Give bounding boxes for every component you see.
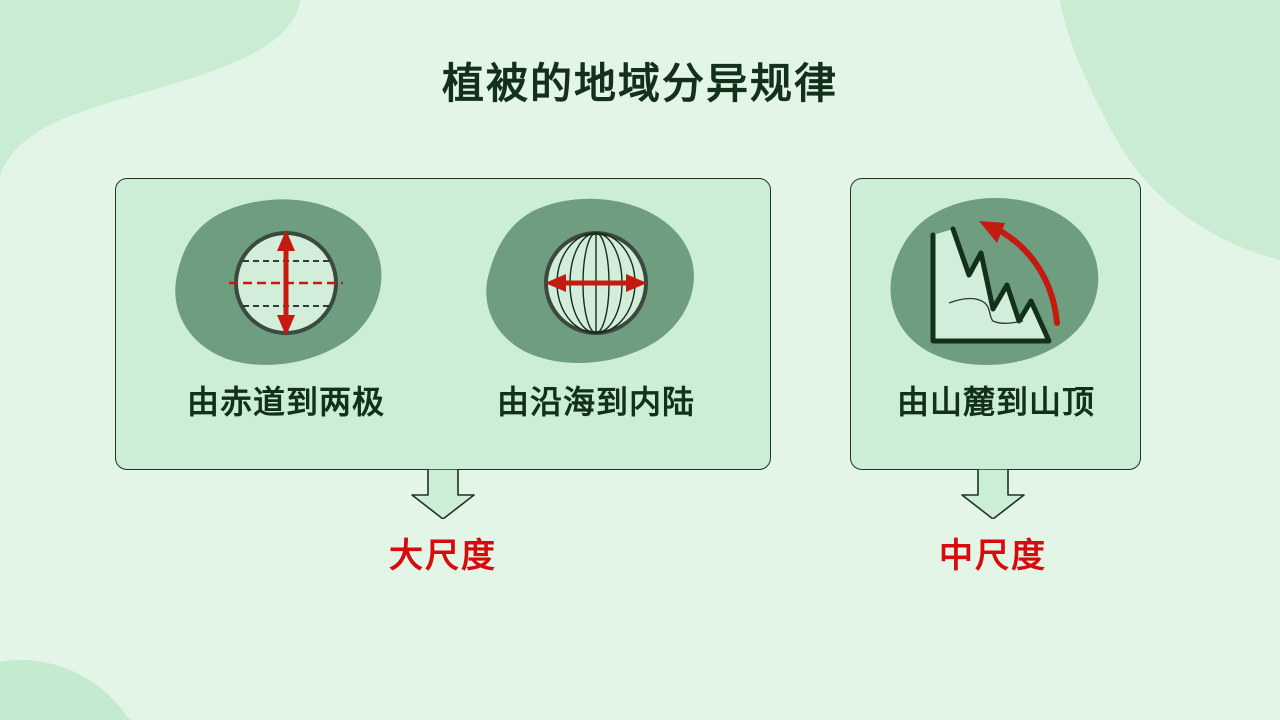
item-label: 由沿海到内陆	[451, 377, 741, 423]
bottom-left-blob	[0, 690, 132, 720]
down-arrow-large-scale	[408, 469, 478, 519]
item-label: 由赤道到两极	[141, 377, 431, 423]
item-equator-to-poles: 由赤道到两极	[141, 179, 431, 471]
page-title: 植被的地域分异规律	[0, 60, 1280, 108]
slide-canvas: 植被的地域分异规律 由赤道到两极	[0, 0, 1280, 720]
mountain-profile-icon	[881, 193, 1111, 373]
item-coast-to-inland: 由沿海到内陆	[451, 179, 741, 471]
medium-scale-caption: 中尺度	[863, 528, 1123, 577]
globe-longitude-icon	[481, 193, 711, 373]
down-arrow-medium-scale	[958, 469, 1028, 519]
item-piedmont-to-summit: 由山麓到山顶	[851, 179, 1141, 471]
item-label: 由山麓到山顶	[851, 377, 1141, 423]
large-scale-panel: 由赤道到两极 由沿海到内陆	[115, 178, 771, 470]
large-scale-caption: 大尺度	[313, 528, 573, 577]
medium-scale-panel: 由山麓到山顶	[850, 178, 1141, 470]
globe-latitude-icon	[171, 193, 401, 373]
bottom-left-circle-blob	[0, 660, 150, 720]
